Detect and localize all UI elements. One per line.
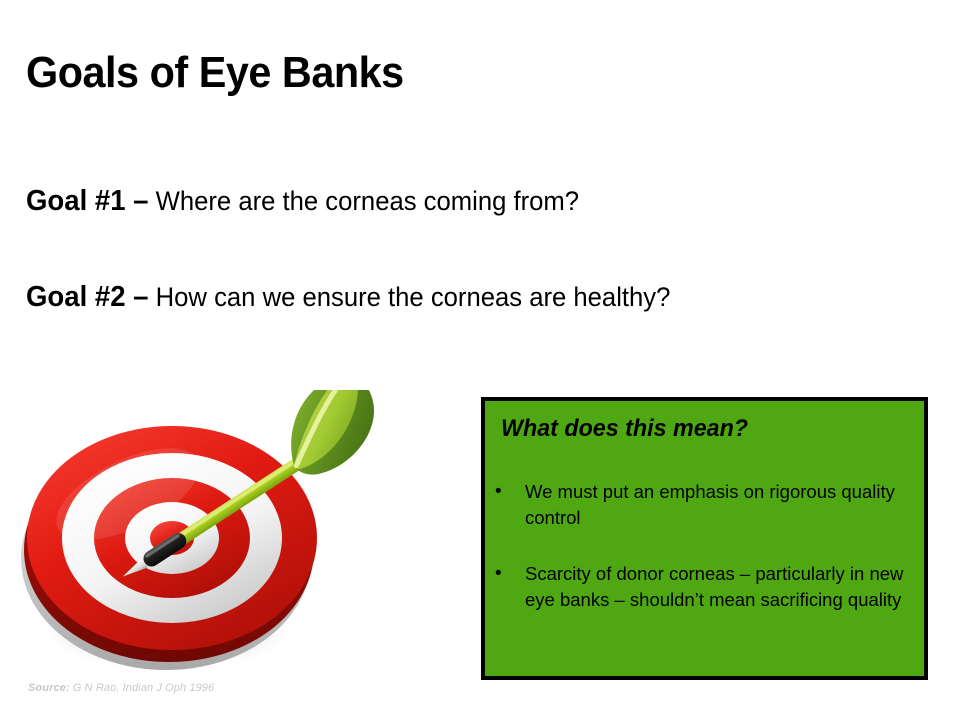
slide-canvas: Goals of Eye Banks Goal #1 – Where are t… bbox=[0, 0, 960, 720]
dartboard-with-dart-icon bbox=[20, 390, 440, 690]
goal-2-text: How can we ensure the corneas are health… bbox=[149, 282, 671, 312]
list-item-text: Scarcity of donor corneas – particularly… bbox=[525, 561, 919, 613]
list-item: • Scarcity of donor corneas – particular… bbox=[495, 561, 919, 613]
bullet-point-icon: • bbox=[495, 479, 525, 505]
source-citation: Source: G N Rao, Indian J Oph 1996 bbox=[28, 682, 214, 694]
bullet-point-icon: • bbox=[495, 561, 525, 587]
callout-box: What does this mean? • We must put an em… bbox=[481, 397, 928, 680]
list-item-text: We must put an emphasis on rigorous qual… bbox=[525, 479, 919, 531]
goal-1-text: Where are the corneas coming from? bbox=[149, 186, 580, 216]
page-title: Goals of Eye Banks bbox=[26, 50, 404, 96]
list-item: • We must put an emphasis on rigorous qu… bbox=[495, 479, 919, 531]
callout-heading: What does this mean? bbox=[501, 415, 748, 443]
goal-line-1: Goal #1 – Where are the corneas coming f… bbox=[26, 186, 579, 218]
goal-2-label: Goal #2 – bbox=[26, 281, 149, 313]
source-label: Source: bbox=[28, 682, 70, 694]
goal-line-2: Goal #2 – How can we ensure the corneas … bbox=[26, 282, 670, 314]
source-text: G N Rao, Indian J Oph 1996 bbox=[70, 682, 215, 694]
goal-1-label: Goal #1 – bbox=[26, 185, 149, 217]
